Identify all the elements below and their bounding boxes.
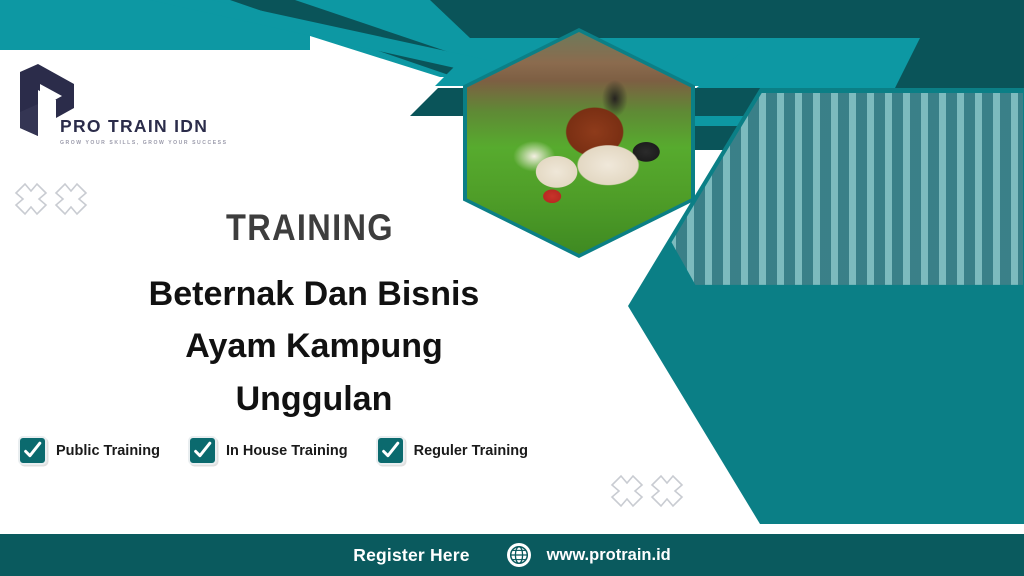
- option-label: Reguler Training: [414, 443, 528, 459]
- globe-icon: [506, 542, 532, 568]
- page-title: Beternak Dan Bisnis Ayam Kampung Unggula…: [0, 268, 628, 425]
- brand-tagline: GROW YOUR SKILLS, GROW YOUR SUCCESS: [60, 140, 228, 146]
- option-in-house-training[interactable]: In House Training: [188, 436, 348, 465]
- x-mark-icon: [610, 474, 644, 508]
- training-promo-poster: PRO TRAIN IDN GROW YOUR SKILLS, GROW YOU…: [0, 0, 1024, 576]
- page-title-line-2: Ayam Kampung: [0, 320, 628, 372]
- check-icon[interactable]: [376, 436, 405, 465]
- checkmark-icon: [20, 438, 45, 463]
- page-title-line-3: Unggulan: [0, 373, 628, 425]
- brand-name: PRO TRAIN IDN: [60, 118, 228, 136]
- website-group[interactable]: www.protrain.id: [506, 542, 671, 568]
- checkmark-icon: [378, 438, 403, 463]
- banner-band-dark-teal-top-right: [430, 0, 1024, 38]
- option-reguler-training[interactable]: Reguler Training: [376, 436, 528, 465]
- brand-logo: PRO TRAIN IDN GROW YOUR SKILLS, GROW YOU…: [16, 62, 236, 138]
- page-title-line-1: Beternak Dan Bisnis: [0, 268, 628, 320]
- option-public-training[interactable]: Public Training: [18, 436, 160, 465]
- option-label: Public Training: [56, 443, 160, 459]
- checkmark-icon: [190, 438, 215, 463]
- x-ornament-middle: [610, 474, 684, 508]
- check-icon[interactable]: [188, 436, 217, 465]
- check-icon[interactable]: [18, 436, 47, 465]
- website-url[interactable]: www.protrain.id: [547, 546, 671, 565]
- option-label: In House Training: [226, 443, 348, 459]
- footer-bar: Register Here www.protrain.id: [0, 534, 1024, 576]
- x-mark-icon: [650, 474, 684, 508]
- register-cta[interactable]: Register Here: [353, 545, 469, 566]
- training-type-options: Public Training In House Training Regule…: [18, 436, 528, 465]
